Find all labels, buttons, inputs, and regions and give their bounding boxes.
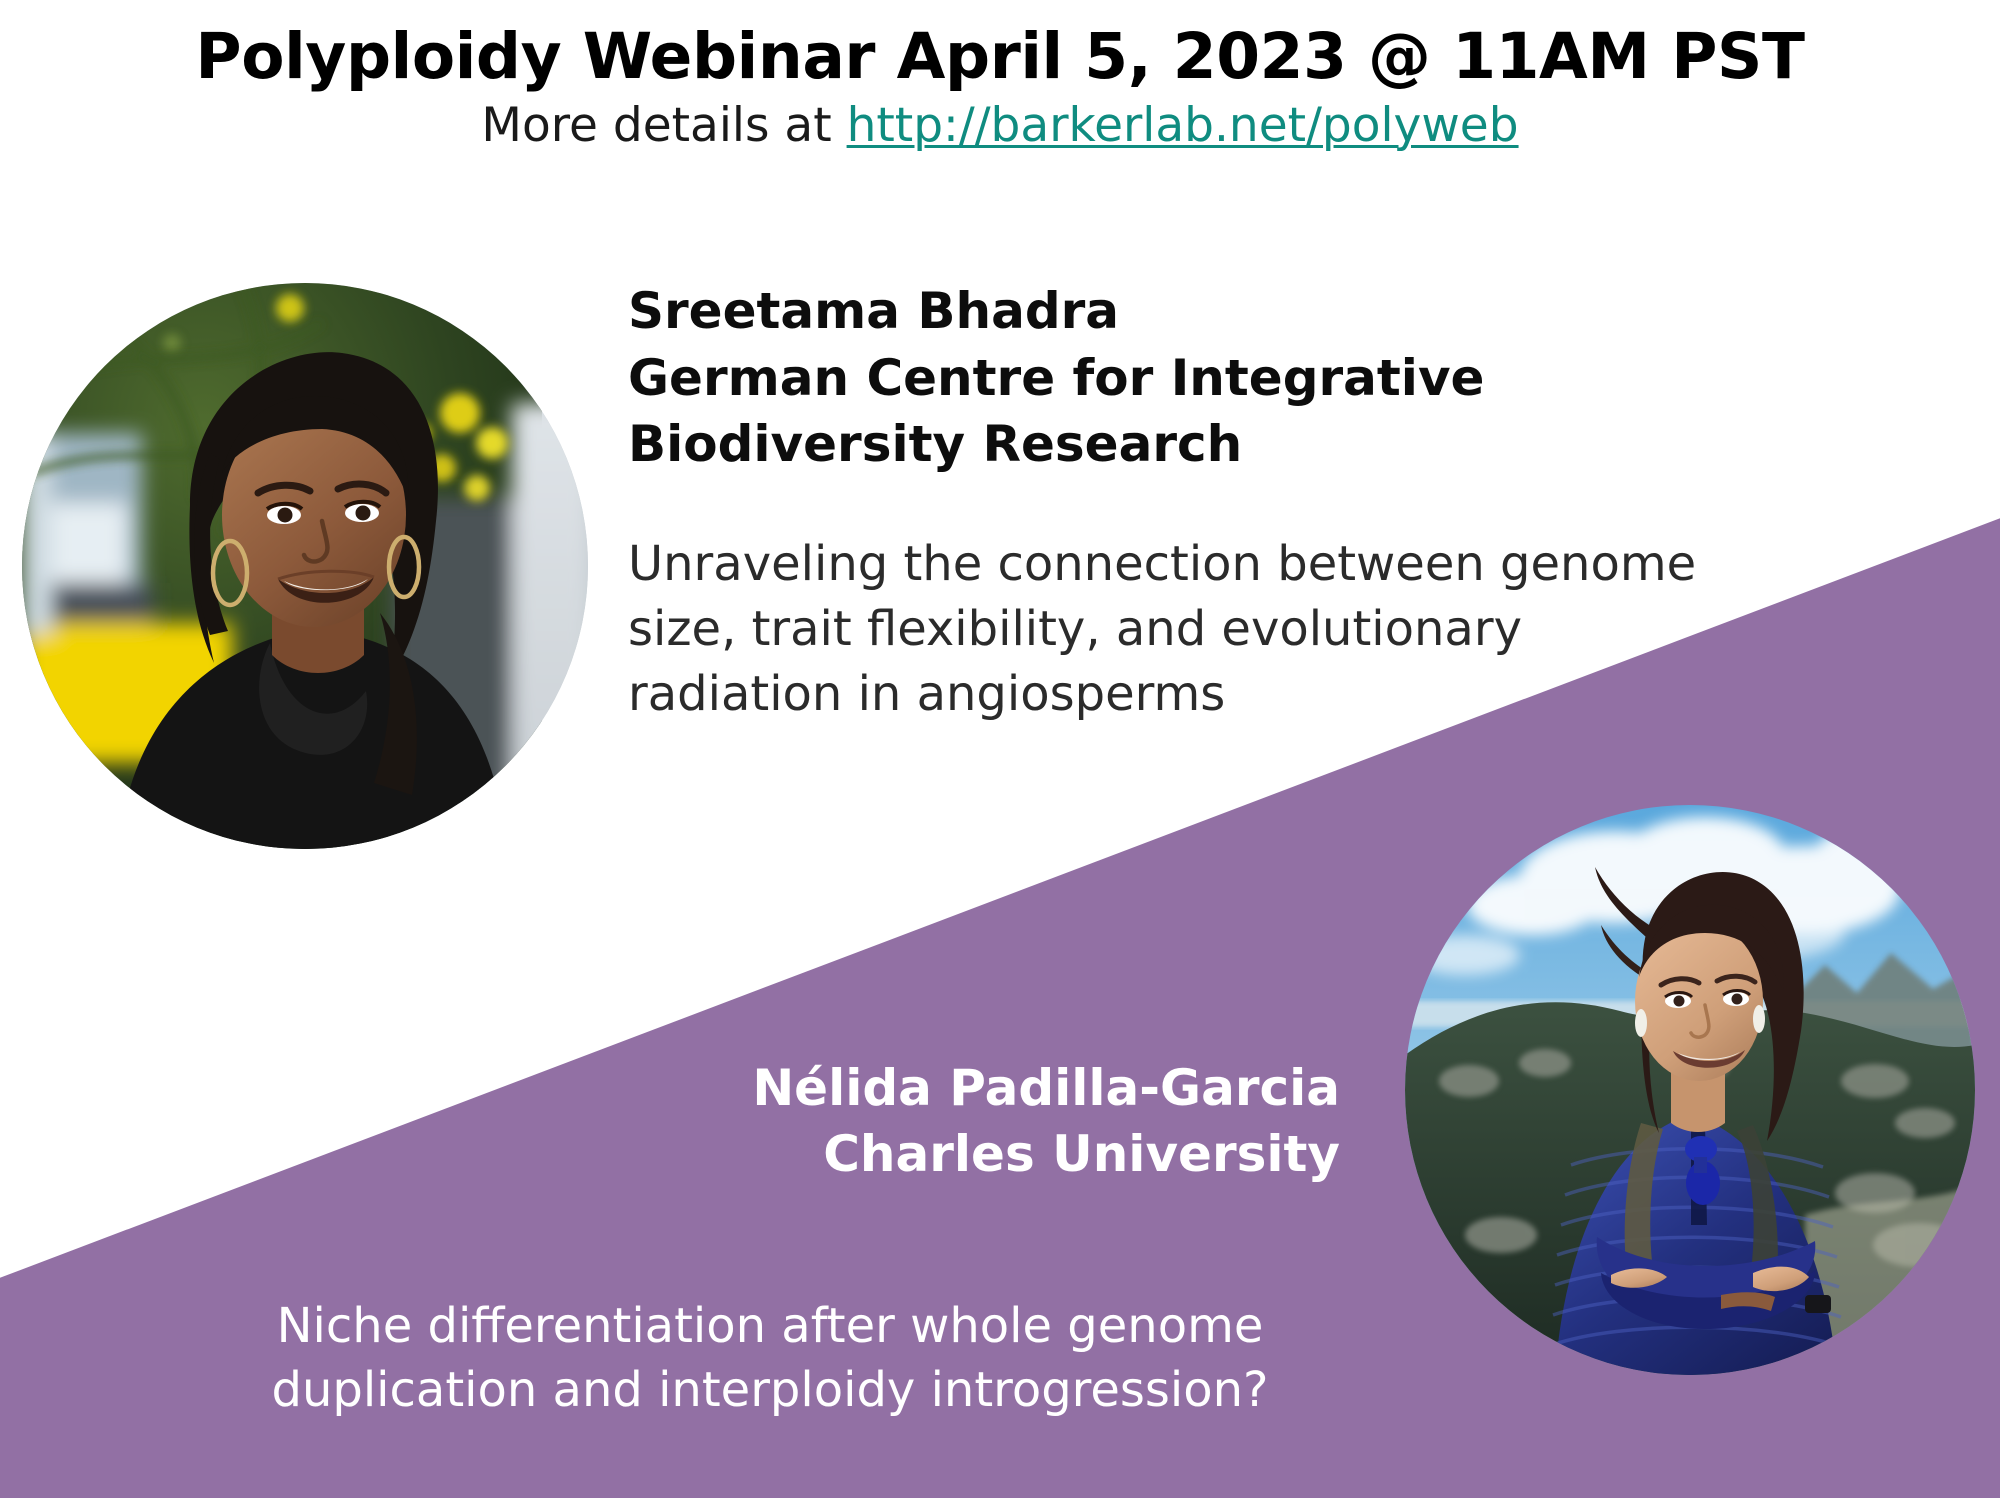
speaker-1-block: Sreetama Bhadra German Centre for Integr… — [628, 278, 1758, 727]
page-title: Polyploidy Webinar April 5, 2023 @ 11AM … — [0, 22, 2000, 93]
headshot-nelida-padilla-garcia-image — [1405, 805, 1975, 1375]
header: Polyploidy Webinar April 5, 2023 @ 11AM … — [0, 22, 2000, 153]
speaker-2-block: Nélida Padilla-Garcia Charles University — [240, 1055, 1340, 1187]
headshot-sreetama-bhadra-image — [22, 283, 588, 849]
header-subtitle: More details at http://barkerlab.net/pol… — [0, 99, 2000, 153]
avatar — [22, 283, 588, 849]
webinar-details-link[interactable]: http://barkerlab.net/polyweb — [847, 98, 1519, 153]
speaker-2-name-affiliation: Nélida Padilla-Garcia Charles University — [240, 1055, 1340, 1187]
speaker-2-talk-title: Niche differentiation after whole genome… — [170, 1295, 1370, 1423]
webinar-announcement-slide: Polyploidy Webinar April 5, 2023 @ 11AM … — [0, 0, 2000, 1498]
header-subtitle-prefix: More details at — [481, 98, 846, 153]
speaker-1-name-affiliation: Sreetama Bhadra German Centre for Integr… — [628, 278, 1758, 478]
avatar — [1405, 805, 1975, 1375]
speaker-1-talk-title: Unraveling the connection between genome… — [628, 532, 1758, 728]
